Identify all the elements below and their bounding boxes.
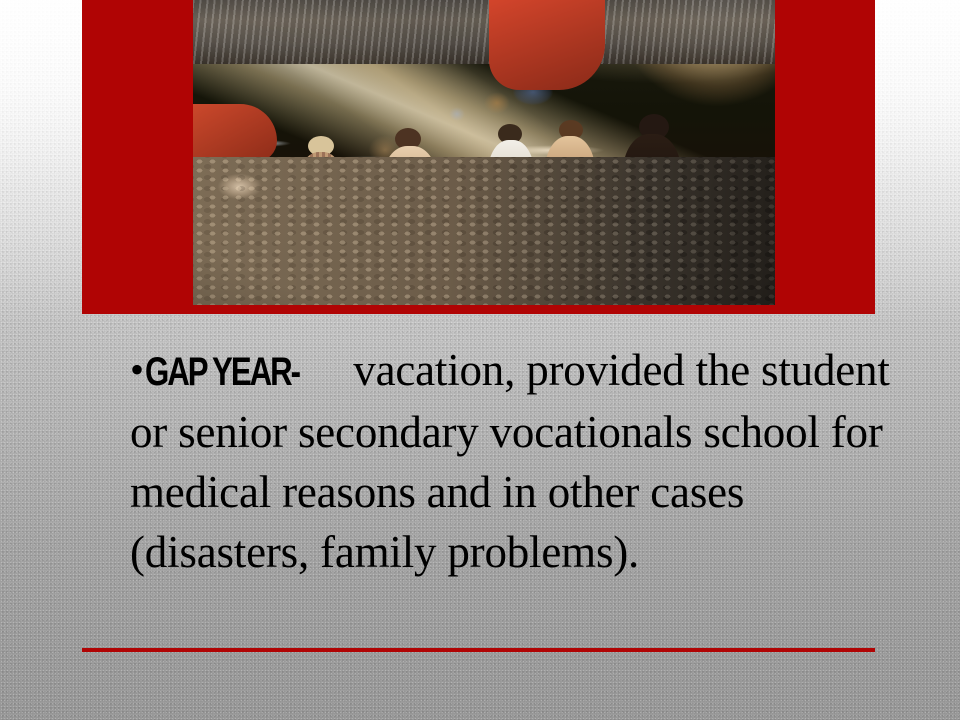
footer-divider: [82, 648, 875, 652]
photo-river-campers: [193, 0, 775, 305]
slide-body-text: •GAP YEAR- vacation, provided the studen…: [130, 340, 890, 582]
lead-term: GAP YEAR-: [145, 342, 299, 402]
bullet-point: •: [130, 350, 144, 390]
photo-frame: [82, 0, 875, 314]
photo-vignette: [193, 0, 775, 305]
presentation-slide: •GAP YEAR- vacation, provided the studen…: [0, 0, 960, 720]
